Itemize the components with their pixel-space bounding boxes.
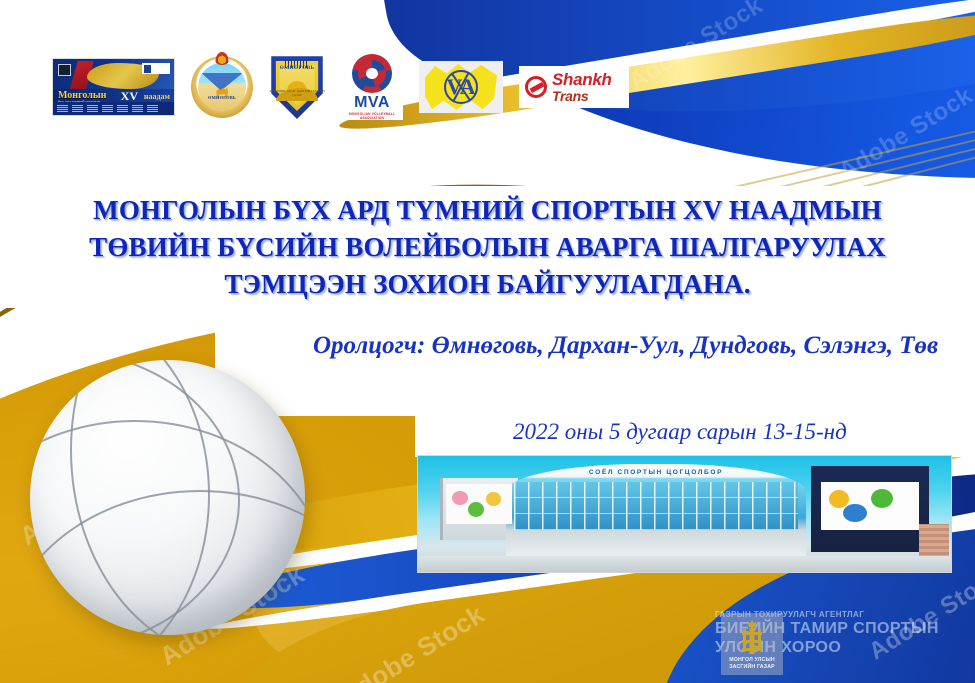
mongolia-flag-icon: [58, 64, 71, 76]
shankh-line2: Trans: [552, 89, 612, 103]
logo-naadam-text: наадам: [144, 92, 170, 101]
logo-umnugovi-shield-emblem: ӨМНӨГОВЬ АЙМГИЙН ЗАСАГ ДАРГЫН ТАМГЫН ГАЗ…: [269, 55, 325, 119]
mva-sublabel: MONGOLIAN VOLLEYBALL ASSOCIATION: [341, 112, 403, 120]
emblem-label: ӨМНӨГОВЬ: [198, 95, 246, 100]
shell-swirl-icon: [525, 76, 547, 98]
event-date-text: 2022 оны 5 дугаар сарын 13-15-нд: [415, 419, 847, 445]
title-line-3: ТЭМЦЭЭН ЗОХИОН БАЙГУУЛАГДАНА.: [224, 266, 750, 303]
sport-icon: [486, 492, 501, 506]
soyombo-bar: [742, 640, 762, 643]
banner-footer: [53, 102, 174, 115]
logo-mongolian-volleyball-association: MVA MONGOLIAN VOLLEYBALL ASSOCIATION: [341, 54, 403, 120]
gov-emblem-line-1: МОНГОЛ УЛСЫН: [729, 657, 775, 664]
venue-photograph: СОЁЛ СПОРТЫН ЦОГЦОЛБОР: [417, 455, 952, 573]
page-title: МОНГОЛЫН БҮХ АРД ТҮМНИЙ СПОРТЫН XV НААДМ…: [0, 186, 975, 308]
logo-yellow-volleyball-club: VA: [419, 61, 503, 113]
ground-plaza: [418, 556, 951, 572]
sport-icon: [843, 504, 867, 522]
logo-umnugovi-circular-emblem: ӨМНӨГОВЬ: [191, 56, 253, 118]
shankh-text-block: Shankh Trans: [552, 71, 612, 103]
flame-icon: [216, 52, 229, 65]
title-line-1: МОНГОЛЫН БҮХ АРД ТҮМНИЙ СПОРТЫН XV НААДМ…: [93, 192, 882, 229]
soyombo-bar: [742, 648, 762, 651]
emblem-inner: ӨМНӨГОВЬ: [198, 63, 246, 111]
logo-shankh-trans: Shankh Trans: [519, 66, 629, 108]
left-billboard: [446, 484, 512, 524]
glass-facade: [514, 482, 798, 530]
sport-icon: [871, 489, 893, 508]
mva-label: MVA: [354, 95, 390, 111]
shankh-line1: Shankh: [552, 71, 612, 88]
mountains-icon: [202, 73, 242, 91]
sport-icon: [468, 502, 484, 517]
participants-text: Оролцогч: Өмнөговь, Дархан-Уул, Дундговь…: [215, 332, 938, 360]
logo-mongolian-games-banner: Монголын бүх ард түмний спортын XV наада…: [52, 58, 175, 116]
title-line-2: ТӨВИЙН БҮСИЙН ВОЛЕЙБОЛЫН АВАРГА ШАЛГАРУУ…: [89, 229, 886, 266]
gov-emblem-line-2: ЗАСГИЙН ГАЗАР: [729, 664, 775, 671]
soyombo-icon: [742, 620, 762, 654]
poster-canvas: Adobe Stock Adobe Stock Adobe Stock Adob…: [0, 0, 975, 683]
participants-band: Оролцогч: Өмнөговь, Дархан-Уул, Дундговь…: [215, 315, 975, 377]
shield-label: ӨМНӨГОВЬ: [269, 65, 325, 71]
adjacent-building: [919, 524, 949, 558]
government-emblem: МОНГОЛ УЛСЫН ЗАСГИЙН ГАЗАР: [721, 613, 783, 675]
right-billboard: [821, 482, 919, 530]
date-band: 2022 оны 5 дугаар сарын 13-15-нд: [415, 408, 975, 456]
shield-sublabel: АЙМГИЙН ЗАСАГ ДАРГЫН ТАМГЫН ГАЗАР: [269, 89, 325, 97]
sport-icon: [452, 491, 468, 505]
club-monogram: VA: [447, 74, 476, 100]
soyombo-bar: [742, 632, 762, 635]
partner-badge: [142, 63, 170, 74]
building-sign-text: СОЁЛ СПОРТЫН ЦОГЦОЛБОР: [514, 469, 798, 476]
soyombo-fire: [748, 620, 757, 627]
volleyball-graphic: [30, 360, 305, 635]
sponsor-logo-row: Монголын бүх ард түмний спортын XV наада…: [52, 54, 629, 120]
volleyball-icon: [352, 54, 392, 93]
